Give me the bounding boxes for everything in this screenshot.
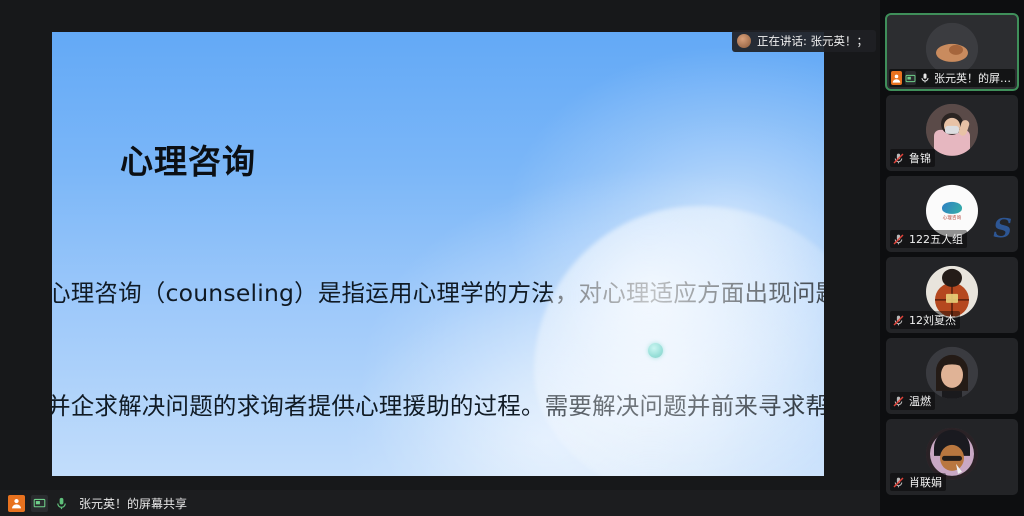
watermark: S (993, 214, 1012, 244)
microphone-muted-icon (892, 476, 905, 489)
participant-tile[interactable]: 心理咨询 S 122五人组 (886, 176, 1018, 252)
tile-label: 温燃 (890, 392, 935, 410)
remote-cursor-icon (648, 343, 663, 358)
avatar (926, 23, 978, 75)
microphone-muted-icon (892, 314, 905, 327)
tile-label: 鲁锦 (890, 149, 935, 167)
screen-share-owner-label: 张元英！的屏幕共享 (79, 495, 187, 512)
tile-name: 温燃 (909, 393, 931, 409)
avatar (926, 347, 978, 399)
participant-filmstrip[interactable]: 张元英！的屏幕共... (880, 0, 1024, 516)
microphone-muted-icon (892, 152, 905, 165)
slide-body: 心理咨询（counseling）是指运用心理学的方法，对心理适应方面出现问题 并… (52, 200, 824, 476)
screen-share-icon[interactable] (31, 495, 48, 512)
shared-screen-content[interactable]: 心理咨询 心理咨询（counseling）是指运用心理学的方法，对心理适应方面出… (52, 32, 824, 476)
microphone-muted-icon (892, 395, 905, 408)
active-speaker-badge: 正在讲话: 张元英！； (732, 30, 876, 52)
tile-name: 12刘夏杰 (909, 312, 956, 328)
presentation-slide: 心理咨询 心理咨询（counseling）是指运用心理学的方法，对心理适应方面出… (52, 32, 824, 476)
microphone-icon (919, 72, 931, 84)
participant-tile[interactable]: 鲁锦 (886, 95, 1018, 171)
tile-label: 12刘夏杰 (890, 311, 960, 329)
tile-label: 肖联娟 (890, 473, 946, 491)
tile-name: 肖联娟 (909, 474, 942, 490)
tile-label: 122五人组 (890, 230, 967, 248)
screen-share-icon (905, 71, 916, 85)
microphone-icon[interactable] (54, 496, 69, 511)
slide-title: 心理咨询 (120, 135, 256, 183)
speaker-avatar-icon (737, 34, 751, 48)
group-logo-icon (942, 201, 962, 213)
meeting-window: 心理咨询 心理咨询（counseling）是指运用心理学的方法，对心理适应方面出… (0, 0, 1024, 516)
tile-name: 鲁锦 (909, 150, 931, 166)
tile-name: 122五人组 (909, 231, 963, 247)
microphone-muted-icon (892, 233, 905, 246)
participants-icon[interactable] (8, 495, 25, 512)
participant-icon (891, 71, 902, 85)
participant-tile-presenter[interactable]: 张元英！的屏幕共... (886, 14, 1018, 90)
avatar (926, 104, 978, 156)
participant-tile[interactable]: 温燃 (886, 338, 1018, 414)
tile-label: 张元英！的屏幕共... (889, 69, 1015, 87)
shared-screen-stage[interactable]: 心理咨询 心理咨询（counseling）是指运用心理学的方法，对心理适应方面出… (0, 0, 880, 516)
tile-name: 张元英！的屏幕共... (934, 70, 1011, 86)
slide-body-line: 并企求解决问题的求询者提供心理援助的过程。需要解决问题并前来寻求帮 (52, 388, 824, 426)
active-speaker-label: 正在讲话: 张元英！； (757, 33, 868, 49)
slide-body-line: 心理咨询（counseling）是指运用心理学的方法，对心理适应方面出现问题 (52, 275, 824, 313)
group-logo-text: 心理咨询 (943, 214, 962, 220)
participant-tile[interactable]: 肖联娟 (886, 419, 1018, 495)
participant-tile[interactable]: 12刘夏杰 (886, 257, 1018, 333)
screen-share-statusbar: 张元英！的屏幕共享 (0, 490, 880, 516)
